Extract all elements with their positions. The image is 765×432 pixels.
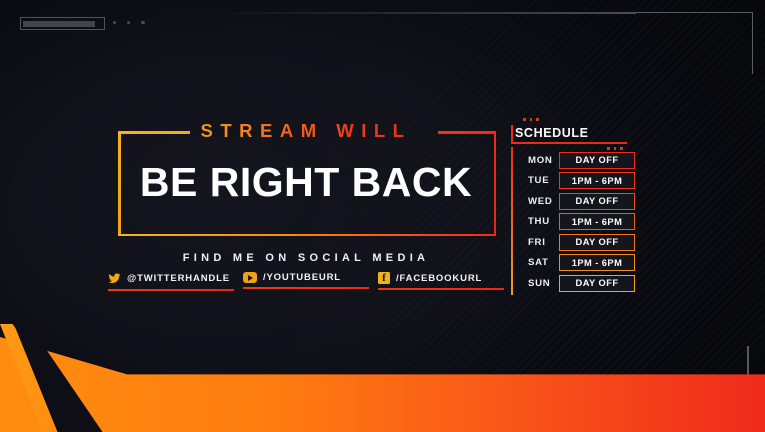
social-handle-facebook: /FACEBOOKURL [396,273,482,284]
social-underline [378,288,504,290]
schedule-row: TUE1PM - 6PM [519,171,635,191]
schedule-slot-chip[interactable]: 1PM - 6PM [559,254,635,271]
eyebrow-text: STREAM WILL [106,118,506,144]
social-section-title: FIND ME ON SOCIAL MEDIA [106,252,506,264]
social-link-facebook[interactable]: f /FACEBOOKURL [378,272,506,290]
schedule-row: MONDAY OFF [519,150,635,170]
schedule-header: SCHEDULE [509,125,635,145]
schedule-day-label: THU [519,216,559,227]
schedule-day-label: SAT [519,257,559,268]
schedule-header-dots-top [523,118,539,121]
top-right-corner-bracket [635,12,753,74]
schedule-row: SUNDAY OFF [519,273,635,293]
schedule-left-rail [511,147,513,295]
social-handle-twitter: @TWITTERHANDLE [127,273,230,284]
dot [523,118,526,121]
social-links-row: @TWITTERHANDLE /YOUTUBEURL [108,272,506,291]
message-block: STREAM WILL BE RIGHT BACK FIND ME ON SOC… [106,118,506,298]
top-left-dots-decoration [113,21,145,24]
twitter-icon [108,272,121,285]
social-underline [243,287,369,289]
youtube-icon [243,272,257,283]
facebook-icon: f [378,272,390,284]
schedule-day-label: FRI [519,237,559,248]
schedule-slot-chip[interactable]: 1PM - 6PM [559,213,635,230]
schedule-slot-chip[interactable]: 1PM - 6PM [559,172,635,189]
dot [536,118,539,121]
schedule-header-rule [511,142,627,144]
schedule-day-label: SUN [519,278,559,289]
top-left-bar-decoration [20,17,105,30]
schedule-row: SAT1PM - 6PM [519,253,635,273]
top-left-bar-fill [23,21,95,27]
stream-overlay-canvas: STREAM WILL BE RIGHT BACK FIND ME ON SOC… [0,0,765,432]
schedule-slot-chip[interactable]: DAY OFF [559,234,635,251]
social-link-youtube[interactable]: /YOUTUBEURL [243,272,371,289]
social-link-twitter[interactable]: @TWITTERHANDLE [108,272,236,291]
schedule-row: FRIDAY OFF [519,232,635,252]
schedule-row: THU1PM - 6PM [519,212,635,232]
page-title: BE RIGHT BACK [106,154,506,210]
schedule-row: WEDDAY OFF [519,191,635,211]
dot [141,21,144,24]
social-handle-youtube: /YOUTUBEURL [263,272,341,283]
schedule-day-label: TUE [519,175,559,186]
top-right-bracket-extension [206,12,636,14]
dot [127,21,130,24]
schedule-slot-chip[interactable]: DAY OFF [559,275,635,292]
schedule-header-tick [511,125,513,142]
schedule-slot-chip[interactable]: DAY OFF [559,152,635,169]
frame-edge-bottom [118,234,496,237]
social-underline [108,289,234,291]
schedule-day-label: WED [519,196,559,207]
schedule-title: SCHEDULE [515,125,589,141]
dot [530,118,533,121]
dot [113,21,116,24]
schedule-slot-chip[interactable]: DAY OFF [559,193,635,210]
schedule-rows: MONDAY OFFTUE1PM - 6PMWEDDAY OFFTHU1PM -… [519,150,635,294]
schedule-day-label: MON [519,155,559,166]
schedule-panel: SCHEDULE MONDAY OFFTUE1PM - 6PMWEDDAY OF… [509,125,635,300]
